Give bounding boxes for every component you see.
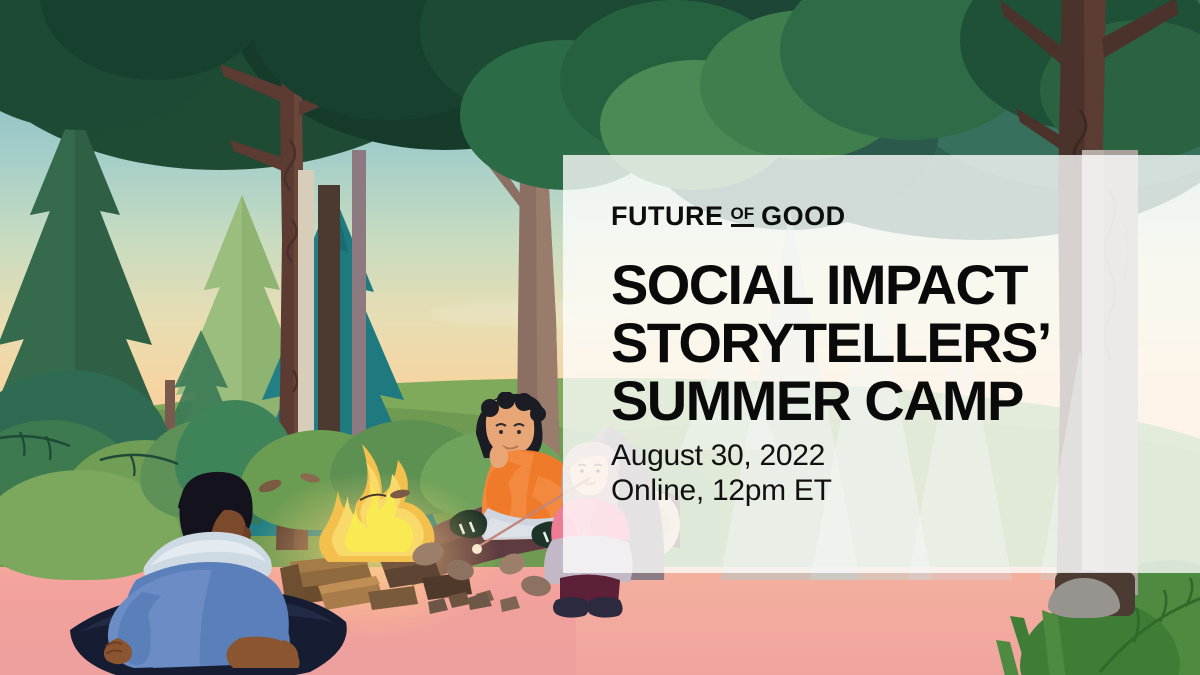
campfire-stones [408,540,588,630]
headline-line-1: SOCIAL IMPACT [611,256,1131,314]
event-details: August 30, 2022 Online, 12pm ET [611,439,1131,509]
brand-logo-good: GOOD [761,203,846,230]
brand-logo-of: OF [731,205,755,222]
poster-text-block: FUTURE OF GOOD SOCIAL IMPACT STORYTELLER… [611,203,1131,508]
brand-logo-future: FUTURE [611,203,724,230]
poster-canvas: FUTURE OF GOOD SOCIAL IMPACT STORYTELLER… [0,0,1200,675]
brand-logo-of-underline [731,224,755,227]
tree-trunk-pale-thin [298,170,314,470]
event-location-time: Online, 12pm ET [611,474,1131,509]
brand-logo-of-wrap: OF [731,205,755,227]
brand-logo[interactable]: FUTURE OF GOOD [611,203,1131,230]
event-date: August 30, 2022 [611,439,1131,474]
event-headline: SOCIAL IMPACT STORYTELLERS’ SUMMER CAMP [611,256,1131,431]
headline-line-3: SUMMER CAMP [611,372,1131,430]
headline-line-2: STORYTELLERS’ [611,314,1131,372]
ground-twigs [250,470,430,530]
